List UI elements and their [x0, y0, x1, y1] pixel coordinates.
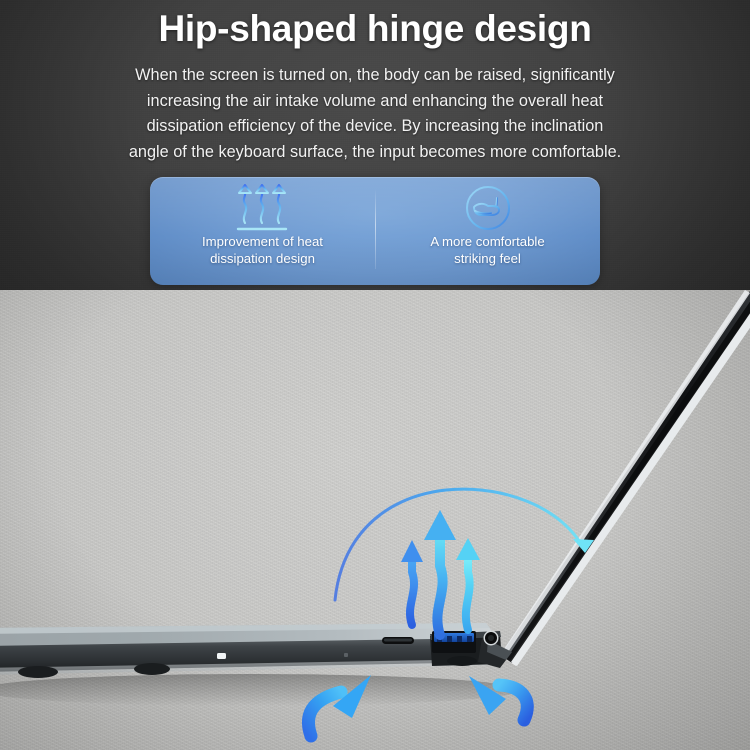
- description-line-4: angle of the keyboard surface, the input…: [55, 140, 695, 166]
- page-title: Hip-shaped hinge design: [0, 8, 750, 50]
- description-line-3: dissipation efficiency of the device. By…: [55, 114, 695, 140]
- description-line-1: When the screen is turned on, the body c…: [55, 63, 695, 89]
- feature-label-striking-feel: A more comfortable striking feel: [430, 233, 544, 267]
- product-background-texture: [0, 290, 750, 750]
- hand-comfort-icon: [463, 177, 513, 233]
- product-feature-page: Hip-shaped hinge design When the screen …: [0, 0, 750, 750]
- feature-label-line-1: A more comfortable: [430, 233, 544, 250]
- page-description: When the screen is turned on, the body c…: [55, 63, 695, 165]
- heat-dissipation-icon: [228, 177, 298, 233]
- description-line-2: increasing the air intake volume and enh…: [55, 89, 695, 115]
- product-background-vignette: [0, 290, 750, 750]
- product-image-section: [0, 290, 750, 750]
- feature-label-heat-dissipation: Improvement of heat dissipation design: [202, 233, 323, 267]
- feature-label-line-2: dissipation design: [202, 250, 323, 267]
- feature-label-line-2: striking feel: [430, 250, 544, 267]
- feature-item-heat-dissipation: Improvement of heat dissipation design: [150, 177, 375, 285]
- header-section: Hip-shaped hinge design When the screen …: [0, 0, 750, 291]
- feature-item-striking-feel: A more comfortable striking feel: [375, 177, 600, 285]
- feature-label-line-1: Improvement of heat: [202, 233, 323, 250]
- feature-panel: Improvement of heat dissipation design: [150, 177, 600, 285]
